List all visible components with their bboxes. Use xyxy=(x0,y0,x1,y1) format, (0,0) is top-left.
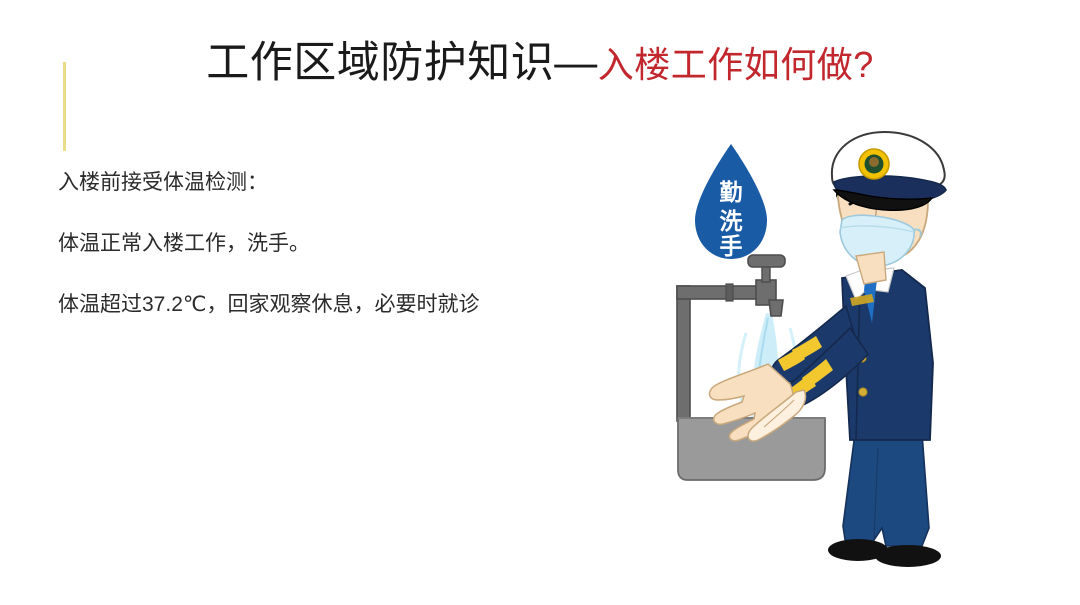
page-title-dash: — xyxy=(554,39,598,87)
body-line-1: 入楼前接受体温检测： xyxy=(58,170,658,196)
waterdrop-icon: 勤 洗 手 xyxy=(695,144,767,259)
waterdrop-char-1: 勤 xyxy=(720,180,743,205)
page-title-accent: 入楼工作如何做? xyxy=(598,44,874,85)
page-title: 工作区域防护知识—入楼工作如何做? xyxy=(0,36,1080,92)
page-title-main: 工作区域防护知识 xyxy=(206,39,554,87)
hand-washing-officer-illustration: 勤 洗 手 xyxy=(650,128,990,568)
body-line-3: 体温超过37.2℃，回家观察休息，必要时就诊 xyxy=(58,292,658,318)
body-line-2: 体温正常入楼工作，洗手。 xyxy=(58,231,658,257)
shoe-front xyxy=(875,545,941,567)
slide-root: 工作区域防护知识—入楼工作如何做? 入楼前接受体温检测： 体温正常入楼工作，洗手… xyxy=(0,0,1080,605)
waterdrop-char-3: 手 xyxy=(720,234,743,259)
body-copy: 入楼前接受体温检测： 体温正常入楼工作，洗手。 体温超过37.2℃，回家观察休息… xyxy=(58,170,658,318)
police-cap-icon xyxy=(832,132,946,210)
waterdrop-char-2: 洗 xyxy=(720,209,743,234)
